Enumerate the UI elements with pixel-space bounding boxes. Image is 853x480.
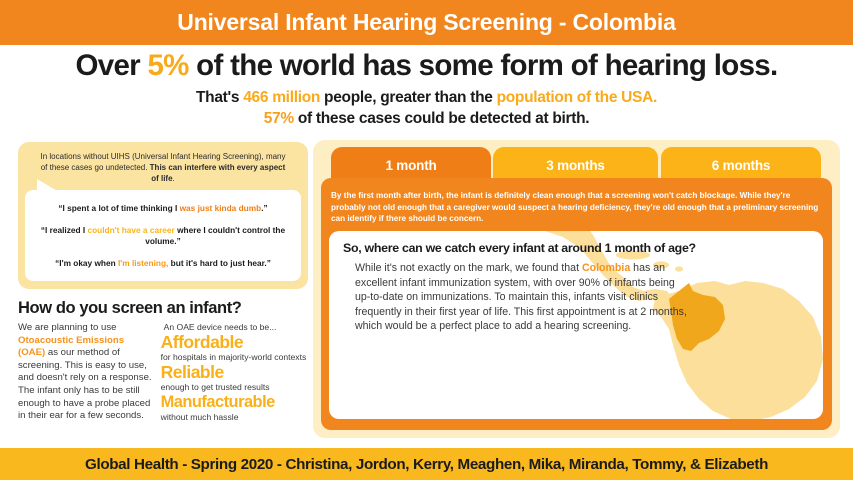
hero-section: Over 5% of the world has some form of he… [0,47,853,129]
quotes-intro: In locations without UIHS (Universal Inf… [25,149,301,190]
quote-1-highlight: was just kinda dumb [180,203,262,213]
requirement-manufacturable-desc: without much hassle [161,412,308,423]
quote-item-3: “I'm okay when I'm listening, but it's h… [35,258,291,269]
infographic-poster: Universal Infant Hearing Screening - Col… [0,0,853,480]
requirement-manufacturable-word: Manufacturable [161,393,308,412]
requirement-affordable-word: Affordable [161,333,308,352]
quote-1-pre: “I spent a lot of time thinking I [58,203,179,213]
colombia-highlight-text: Colombia [582,262,630,274]
hero-stat-57-percent: 57% [264,110,294,127]
quote-2-highlight: couldn't have a career [87,225,174,235]
hero-headline-part1: Over [76,49,148,82]
requirement-affordable: Affordable for hospitals in majority-wor… [161,333,308,363]
requirement-reliable-word: Reliable [161,363,308,382]
page-title: Universal Infant Hearing Screening - Col… [177,9,675,36]
hero-subline1-part1: That's [196,89,243,106]
quotes-card: In locations without UIHS (Universal Inf… [18,142,308,289]
screening-method-column: We are planning to use Otoacoustic Emiss… [18,322,153,423]
footer-credits: Global Health - Spring 2020 - Christina,… [85,456,768,473]
hero-stat-5-percent: 5% [147,49,188,82]
colombia-card-title: So, where can we catch every infant at a… [329,231,823,255]
left-column: In locations without UIHS (Universal Inf… [18,142,308,423]
requirement-reliable: Reliable enough to get trusted results [161,363,308,393]
header-bar: Universal Infant Hearing Screening - Col… [0,0,853,45]
colombia-card-body: While it's not exactly on the mark, we f… [329,255,689,334]
quotes-intro-bold: This can interfere with every aspect of … [150,163,286,183]
screening-section-title: How do you screen an infant? [18,299,308,318]
screening-para-part2: as our method of screening. This is easy… [18,347,152,421]
quote-3-post: but it's hard to just hear.” [168,258,270,268]
colombia-body-part1: While it's not exactly on the mark, we f… [355,262,582,274]
hero-subline1-part2: people, greater than the [320,89,497,106]
timeline-panel-paragraph: By the first month after birth, the infa… [331,190,823,225]
quote-3-highlight: I'm listening, [118,258,168,268]
speech-bubble-tail-icon [37,179,59,192]
quote-3-pre: “I'm okay when [55,258,118,268]
hero-headline: Over 5% of the world has some form of he… [0,47,853,85]
hero-stat-usa-population: population of the USA. [497,89,657,106]
requirement-reliable-desc: enough to get trusted results [161,382,308,393]
timeline-active-panel: By the first month after birth, the infa… [321,178,832,430]
quotes-intro-period: . [173,174,175,183]
hero-headline-part2: of the world has some form of hearing lo… [189,49,778,82]
quote-1-post: .” [261,203,267,213]
device-requirements-column: An OAE device needs to be... Affordable … [161,322,308,423]
colombia-card: So, where can we catch every infant at a… [329,231,823,419]
footer-bar: Global Health - Spring 2020 - Christina,… [0,448,853,480]
screening-columns: We are planning to use Otoacoustic Emiss… [18,322,308,423]
hero-subline-1: That's 466 million people, greater than … [0,87,853,108]
quote-item-1: “I spent a lot of time thinking I was ju… [35,203,291,214]
screening-method-paragraph: We are planning to use Otoacoustic Emiss… [18,322,153,423]
screening-para-part1: We are planning to use [18,322,117,333]
timeline-panel: 1 month 3 months 6 months By the first m… [313,140,840,438]
hero-subline-2: 57% of these cases could be detected at … [0,108,853,129]
quote-2-pre: “I realized I [41,225,88,235]
requirement-manufacturable: Manufacturable without much hassle [161,393,308,423]
quote-item-2: “I realized I couldn't have a career whe… [35,225,291,247]
hero-stat-466-million: 466 million [243,89,320,106]
hero-subline2-part2: of these cases could be detected at birt… [294,110,589,127]
quotes-inner-box: “I spent a lot of time thinking I was ju… [25,190,301,281]
